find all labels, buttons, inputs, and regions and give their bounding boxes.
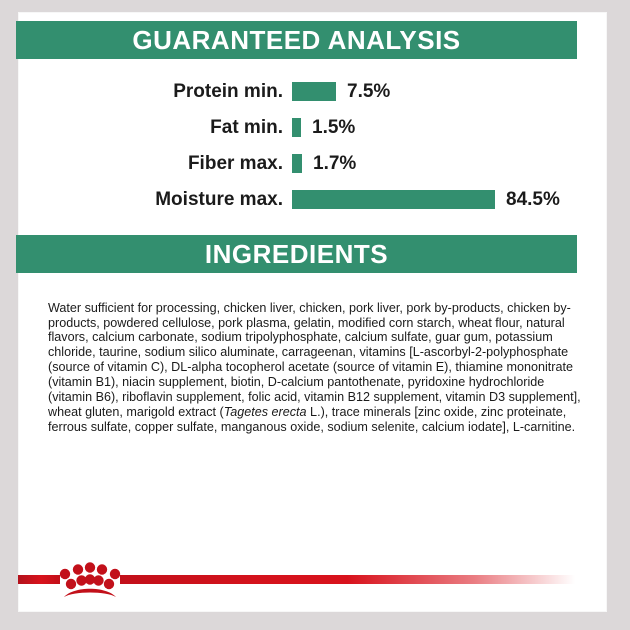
ingredients-text-part-1: Water sufficient for processing, chicken… (48, 301, 581, 419)
brand-rule-right (120, 575, 575, 584)
ingredients-header: INGREDIENTS (16, 235, 577, 273)
analysis-label: Protein min. (16, 82, 292, 101)
royal-canin-crown-icon (54, 558, 126, 602)
ingredients-latin-name: Tagetes erecta (224, 405, 307, 419)
analysis-value: 1.5% (301, 118, 355, 137)
analysis-label: Fat min. (16, 118, 292, 137)
analysis-row: Moisture max.84.5% (16, 181, 577, 217)
analysis-bar-group: 1.7% (292, 154, 356, 173)
analysis-bar (292, 154, 302, 173)
analysis-row: Protein min.7.5% (16, 73, 577, 109)
guaranteed-analysis-chart: Protein min.7.5%Fat min.1.5%Fiber max.1.… (16, 73, 577, 217)
analysis-label: Fiber max. (16, 154, 292, 173)
product-info-panel: GUARANTEED ANALYSIS Protein min.7.5%Fat … (0, 0, 630, 630)
ingredients-text: Water sufficient for processing, chicken… (48, 301, 585, 435)
analysis-bar (292, 190, 495, 209)
analysis-row: Fiber max.1.7% (16, 145, 577, 181)
analysis-row: Fat min.1.5% (16, 109, 577, 145)
analysis-bar (292, 118, 301, 137)
analysis-value: 1.7% (302, 154, 356, 173)
brand-footer (18, 560, 607, 600)
ingredients-title: INGREDIENTS (205, 241, 388, 267)
analysis-value: 7.5% (336, 82, 390, 101)
analysis-bar-group: 1.5% (292, 118, 355, 137)
guaranteed-analysis-title: GUARANTEED ANALYSIS (132, 27, 460, 53)
analysis-label: Moisture max. (16, 190, 292, 209)
analysis-bar (292, 82, 336, 101)
analysis-bar-group: 7.5% (292, 82, 390, 101)
guaranteed-analysis-header: GUARANTEED ANALYSIS (16, 21, 577, 59)
analysis-bar-group: 84.5% (292, 190, 560, 209)
analysis-value: 84.5% (495, 190, 560, 209)
